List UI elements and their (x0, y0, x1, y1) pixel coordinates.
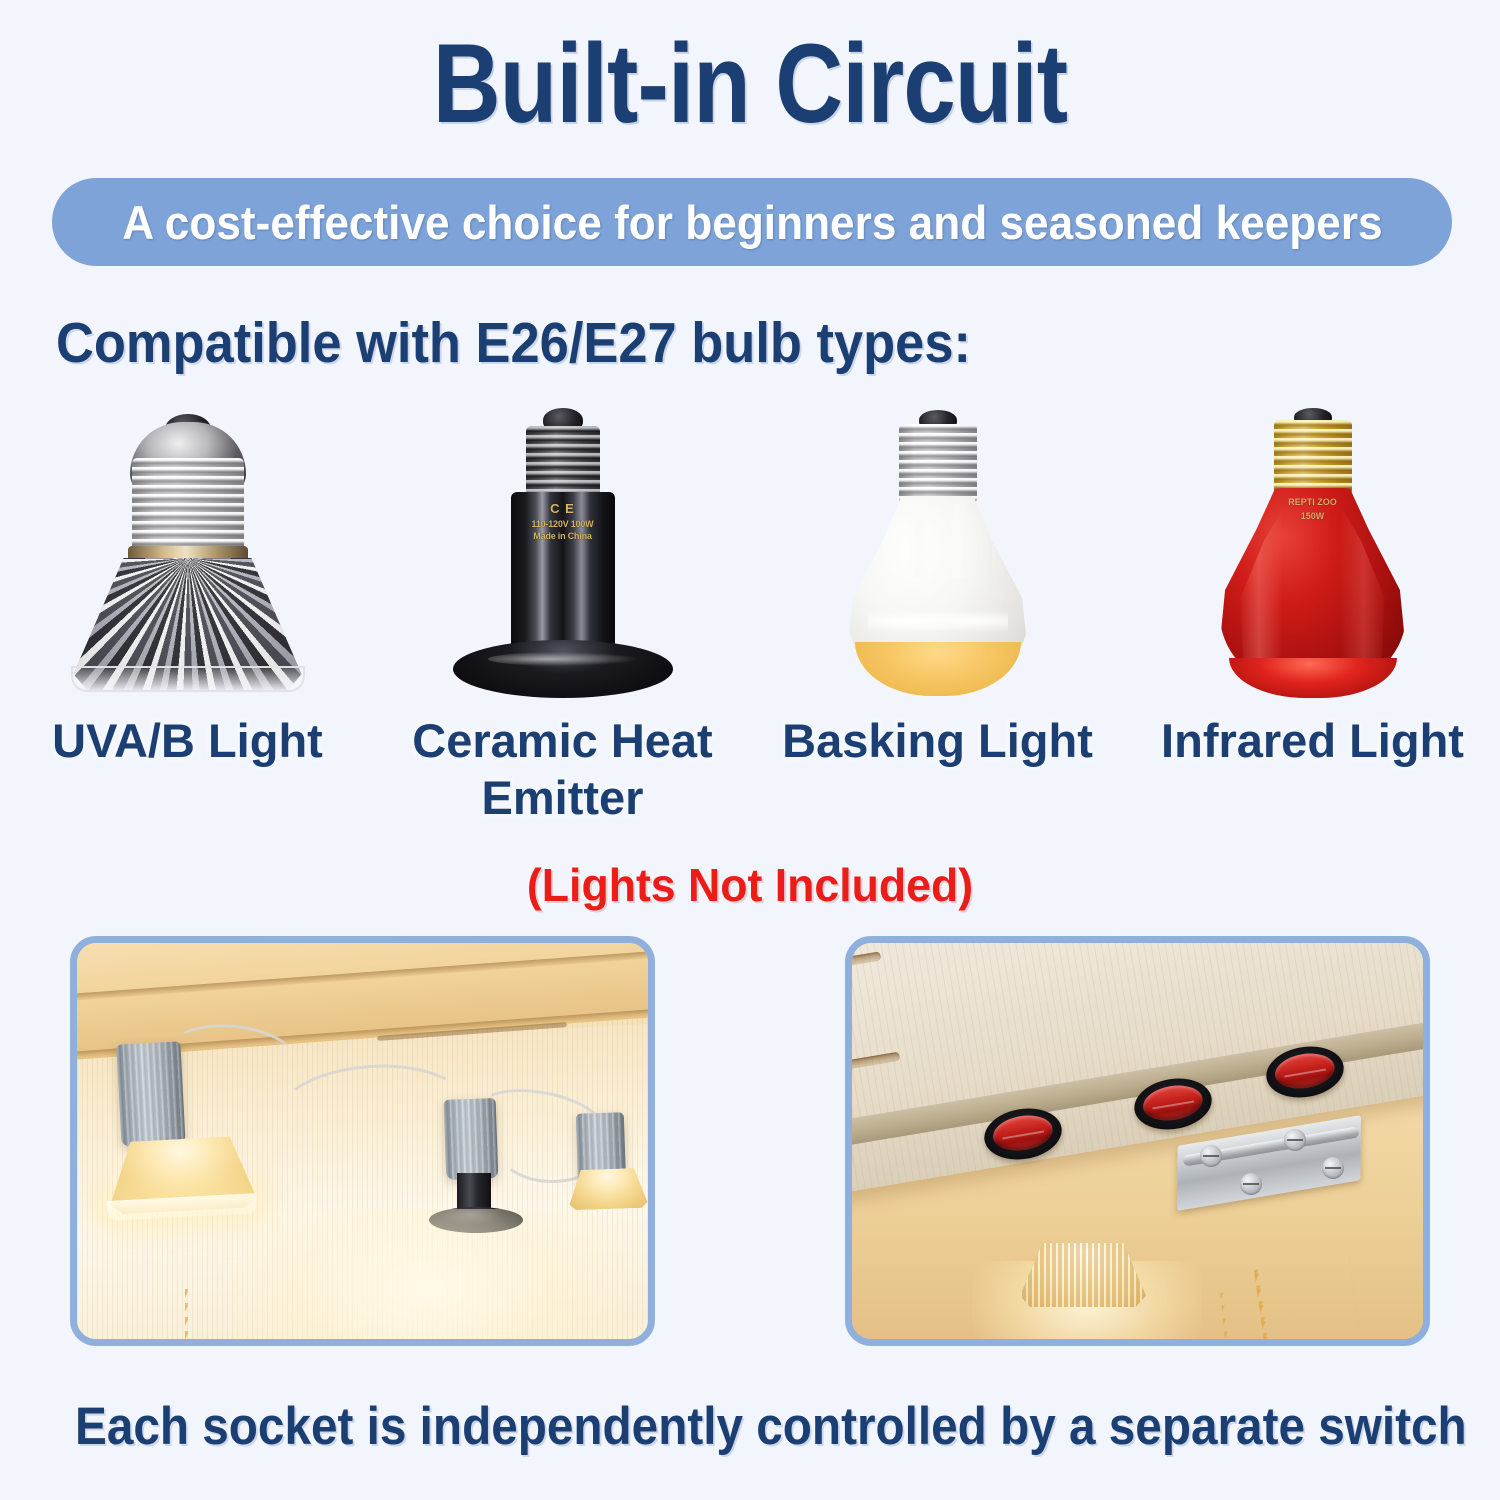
bulb-label-infrared: Infrared Light (1161, 712, 1464, 769)
photo-content (852, 943, 1423, 1339)
subtitle-banner: A cost-effective choice for beginners an… (52, 178, 1452, 266)
bulb-cell-basking (750, 400, 1125, 700)
filament-support-icon (906, 504, 970, 578)
infrared-rating-text: 150W (1301, 511, 1325, 521)
page-title: Built-in Circuit (120, 28, 1380, 140)
basking-bulb-icon (788, 400, 1088, 700)
lamp-socket (116, 1041, 185, 1146)
ce-mark-text: C E (513, 500, 613, 518)
infrared-brand-text: REPTI ZOO (1288, 497, 1337, 507)
glass-highlight (868, 608, 1008, 634)
hinge-screw (1200, 1145, 1222, 1167)
bulb-cell-infrared: REPTI ZOO 150W (1125, 400, 1500, 700)
bulb-label-row: UVA/B Light Ceramic Heat Emitter Basking… (0, 712, 1500, 827)
bulb-label-cell-uva-b: UVA/B Light (0, 712, 375, 827)
enclosure-interior-sockets-photo (70, 936, 655, 1346)
footer-caption: Each socket is independently controlled … (75, 1396, 1425, 1457)
emitter-rating-text: 110-120V 100W (532, 519, 594, 529)
bulb-cell-ceramic-heat-emitter: C E 110-120V 100W Made in China (375, 400, 750, 700)
infrared-printed-markings: REPTI ZOO 150W (1259, 496, 1367, 523)
emitter-origin-text: Made in China (533, 531, 591, 541)
e27-screw-base-icon (899, 424, 977, 502)
e27-screw-base-icon (1274, 420, 1352, 494)
bulb-label-cell-ceramic-heat-emitter: Ceramic Heat Emitter (375, 712, 750, 827)
emitter-flared-base-icon (453, 640, 673, 698)
lamp-socket (444, 1098, 499, 1180)
bulb-label-ceramic-heat-emitter: Ceramic Heat Emitter (375, 712, 750, 827)
infrared-bulb-face-icon (1229, 658, 1397, 698)
bulb-label-basking: Basking Light (782, 712, 1093, 769)
emitter-printed-markings: C E 110-120V 100W Made in China (513, 500, 613, 542)
enclosure-lid-switches-photo (845, 936, 1430, 1346)
lit-reflector-bulb (568, 1168, 647, 1211)
fern-decor (185, 1289, 239, 1345)
e27-screw-base-icon (132, 458, 244, 550)
warm-glow-icon (855, 642, 1021, 696)
hinge-screw (1284, 1129, 1306, 1151)
light-glow (227, 1209, 627, 1346)
bulb-label-cell-infrared: Infrared Light (1125, 712, 1500, 827)
emitter-base-highlight (488, 652, 638, 666)
infrared-bulb-icon: REPTI ZOO 150W (1163, 400, 1463, 700)
fern-decor (1254, 1257, 1360, 1346)
bulb-front-lens-icon (71, 666, 305, 692)
lit-reflector-bulb (1020, 1243, 1146, 1307)
ceramic-heat-emitter-icon: C E 110-120V 100W Made in China (413, 400, 713, 700)
bulb-label-cell-basking: Basking Light (750, 712, 1125, 827)
hinge-screw (1322, 1157, 1344, 1179)
lights-not-included-notice: (Lights Not Included) (23, 858, 1478, 912)
photo-content (77, 943, 648, 1339)
bulb-type-row: C E 110-120V 100W Made in China REPTI (0, 400, 1500, 700)
compatibility-heading: Compatible with E26/E27 bulb types: (56, 310, 971, 376)
e27-screw-base-icon (526, 426, 600, 498)
hinge-screw (1240, 1173, 1262, 1195)
bulb-cell-uva-b (0, 400, 375, 700)
bulb-label-uva-b: UVA/B Light (52, 712, 323, 769)
subtitle-text: A cost-effective choice for beginners an… (122, 195, 1382, 250)
uva-b-reflector-bulb-icon (38, 400, 338, 700)
